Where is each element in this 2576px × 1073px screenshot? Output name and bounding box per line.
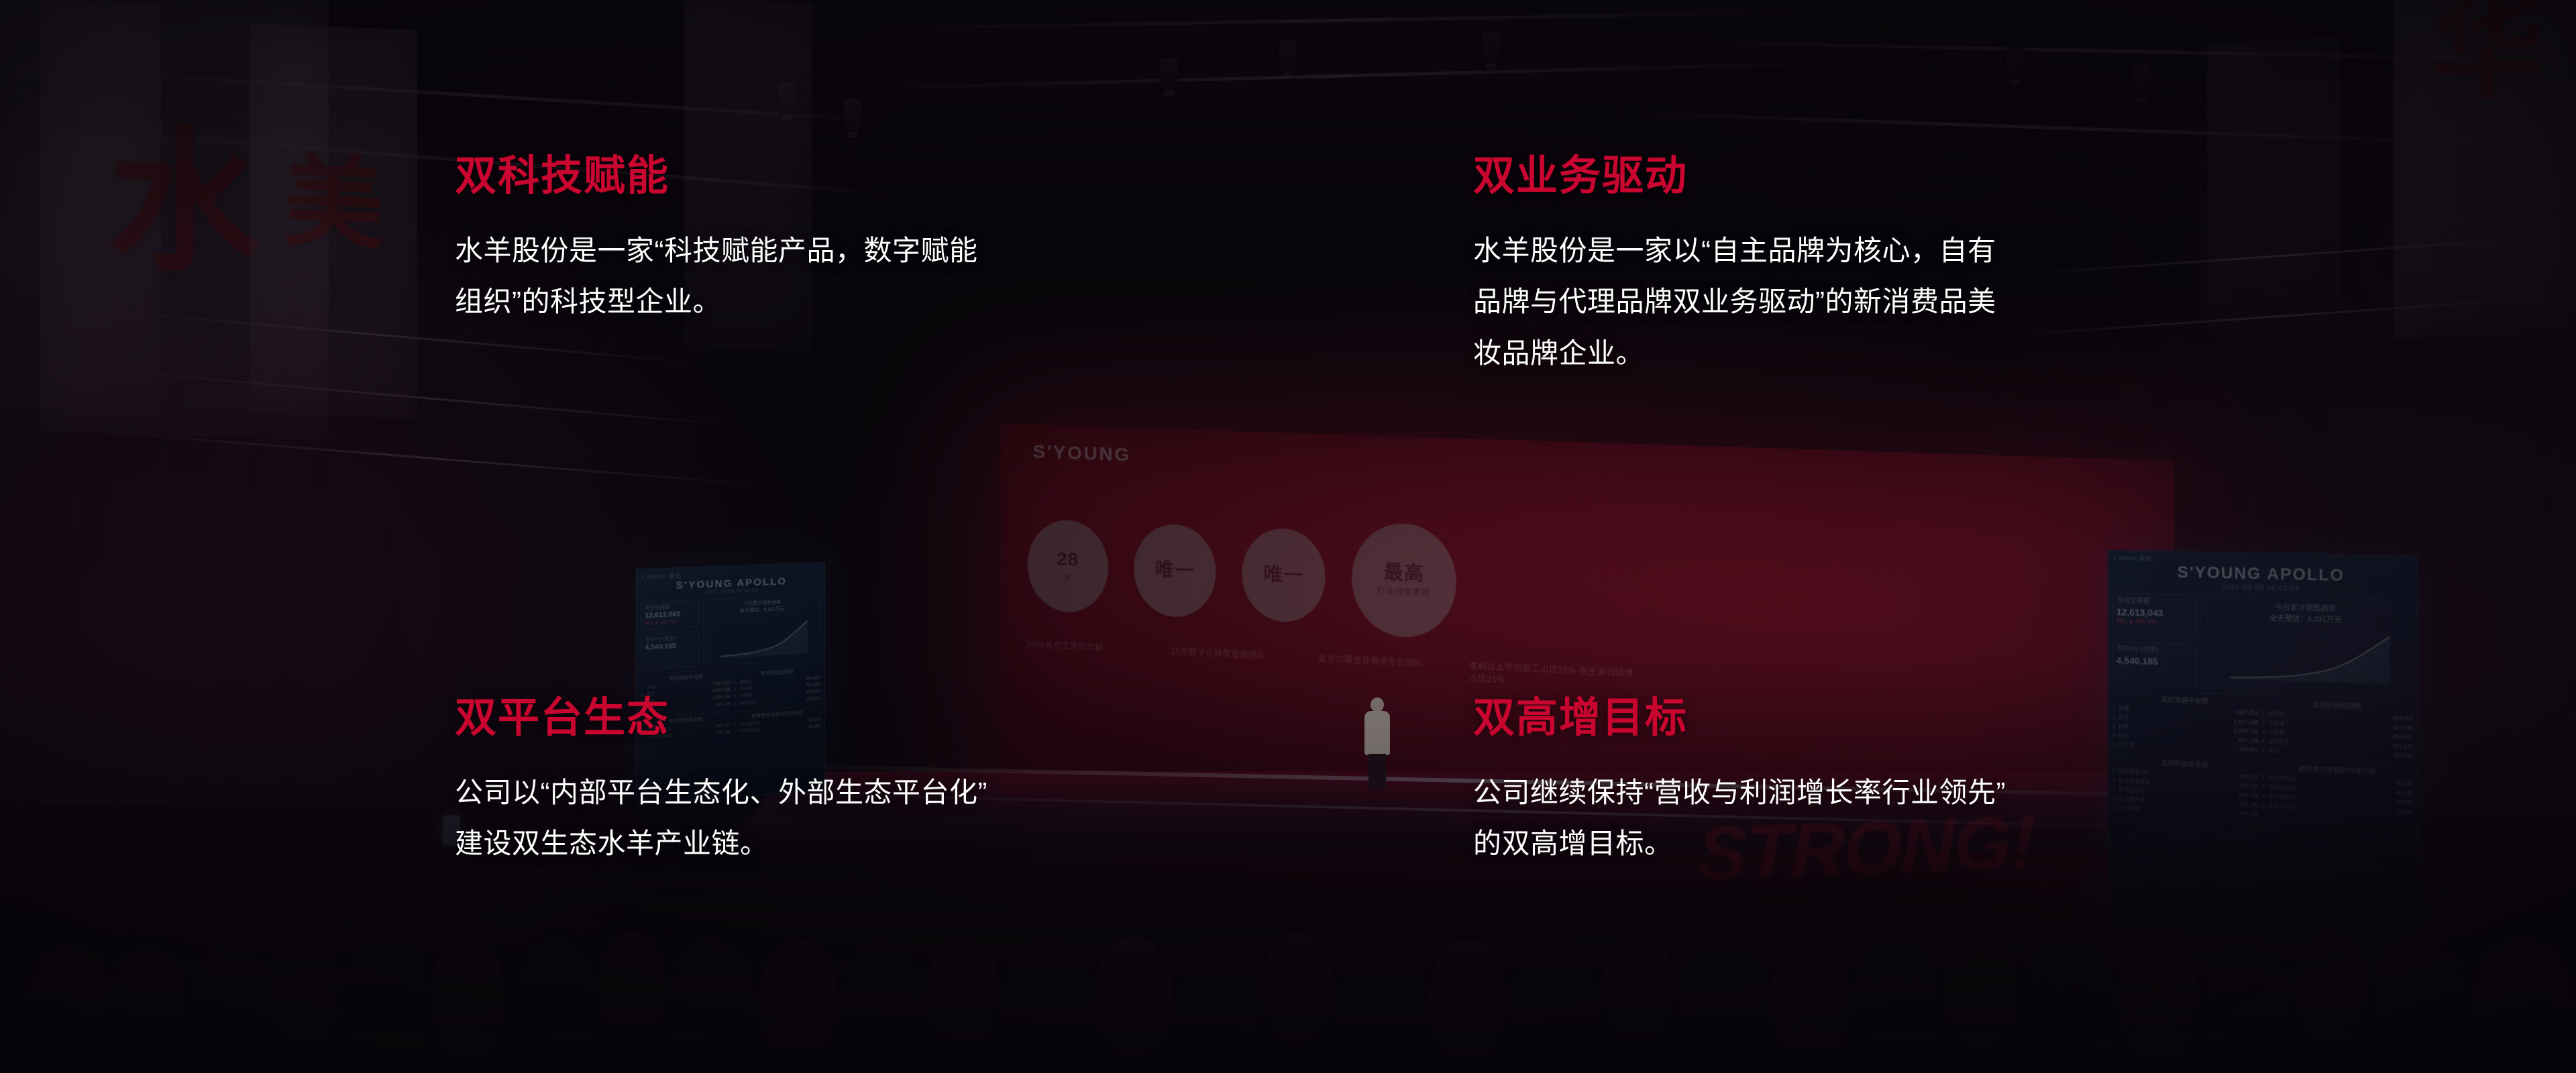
copy-heading: 双平台生态: [455, 697, 987, 739]
hero-copy-overlay: 双科技赋能 水羊股份是一家“科技赋能产品，数字赋能 组织”的科技型企业。 双业务…: [0, 0, 2576, 1073]
copy-body-line: 水羊股份是一家以“自主品牌为核心，自有: [1473, 225, 1996, 276]
copy-block-tech: 双科技赋能 水羊股份是一家“科技赋能产品，数字赋能 组织”的科技型企业。: [455, 156, 978, 328]
copy-body-line: 公司继续保持“营收与利润增长率行业领先”: [1473, 767, 2006, 818]
copy-heading: 双业务驱动: [1473, 156, 1996, 197]
copy-heading: 双高增目标: [1473, 697, 2006, 739]
copy-body: 公司以“内部平台生态化、外部生态平台化” 建设双生态水羊产业链。: [455, 767, 987, 870]
copy-body: 水羊股份是一家“科技赋能产品，数字赋能 组织”的科技型企业。: [455, 225, 978, 328]
copy-body-line: 建设双生态水羊产业链。: [455, 818, 987, 869]
copy-body-line: 公司以“内部平台生态化、外部生态平台化”: [455, 767, 987, 818]
copy-body-line: 品牌与代理品牌双业务驱动”的新消费品美: [1473, 276, 1996, 327]
copy-block-business: 双业务驱动 水羊股份是一家以“自主品牌为核心，自有 品牌与代理品牌双业务驱动”的…: [1473, 156, 1996, 379]
copy-heading: 双科技赋能: [455, 156, 978, 197]
copy-body-line: 妆品牌企业。: [1473, 328, 1996, 379]
conference-hero-scene: 御 水 美 华 S'YOUNG 28 岁 唯一 唯一 最高 行业综合素质: [0, 0, 2576, 1073]
copy-block-growth: 双高增目标 公司继续保持“营收与利润增长率行业领先” 的双高增目标。: [1473, 697, 2006, 870]
copy-body-line: 组织”的科技型企业。: [455, 276, 978, 327]
copy-block-platform: 双平台生态 公司以“内部平台生态化、外部生态平台化” 建设双生态水羊产业链。: [455, 697, 987, 870]
copy-body-line: 水羊股份是一家“科技赋能产品，数字赋能: [455, 225, 978, 276]
copy-body: 水羊股份是一家以“自主品牌为核心，自有 品牌与代理品牌双业务驱动”的新消费品美 …: [1473, 225, 1996, 379]
copy-body-line: 的双高增目标。: [1473, 818, 2006, 869]
copy-body: 公司继续保持“营收与利润增长率行业领先” 的双高增目标。: [1473, 767, 2006, 870]
